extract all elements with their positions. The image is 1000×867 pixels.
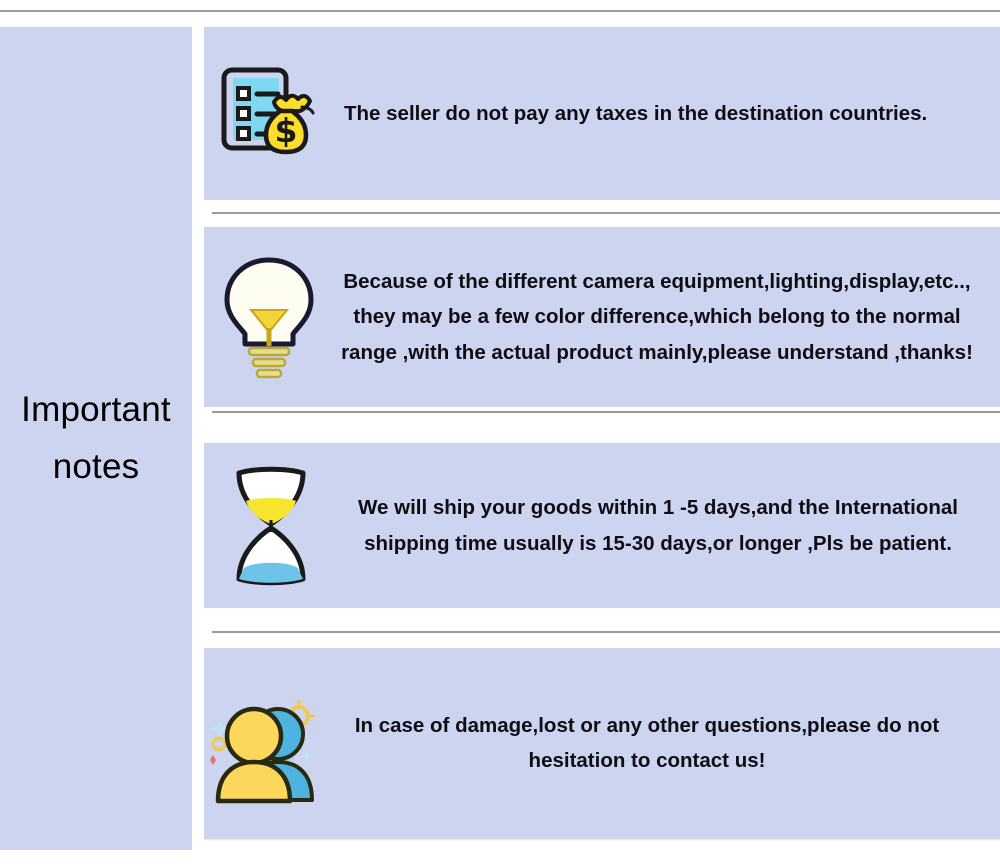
hourglass-icon: [212, 465, 330, 587]
notes-list: $ The seller do not pay any taxes in the…: [204, 27, 1000, 839]
note-text: We will ship your goods within 1 -5 days…: [330, 490, 1000, 561]
note-line: they may be a few color difference,which…: [328, 299, 986, 334]
note-divider: [212, 631, 1000, 633]
note-text: The seller do not pay any taxes in the d…: [330, 96, 1000, 131]
note-row: $ The seller do not pay any taxes in the…: [204, 27, 1000, 200]
note-row: In case of damage,lost or any other ques…: [204, 648, 1000, 838]
note-divider: [212, 411, 1000, 413]
panel-bottom-shadow: [204, 838, 1000, 841]
note-divider: [212, 212, 1000, 214]
sidebar-title-line-2: notes: [53, 439, 140, 496]
note-line: The seller do not pay any taxes in the d…: [344, 96, 986, 131]
note-line: We will ship your goods within 1 -5 days…: [330, 490, 986, 525]
top-divider: [0, 10, 1000, 12]
lightbulb-icon: [210, 254, 328, 380]
note-line: Because of the different camera equipmen…: [328, 264, 986, 299]
note-line: In case of damage,lost or any other ques…: [324, 708, 970, 743]
note-text: In case of damage,lost or any other ques…: [324, 708, 1000, 779]
note-row: We will ship your goods within 1 -5 days…: [204, 443, 1000, 608]
two-people-support-icon: [206, 682, 324, 804]
note-text: Because of the different camera equipmen…: [328, 264, 1000, 370]
sidebar-title-line-1: Important: [21, 382, 171, 439]
tax-document-money-bag-icon: $: [212, 64, 330, 164]
note-line: range ,with the actual product mainly,pl…: [328, 335, 986, 370]
important-notes-page: Important notes $: [0, 0, 1000, 867]
svg-text:$: $: [275, 111, 298, 150]
note-line: hesitation to contact us!: [324, 743, 970, 778]
note-row: Because of the different camera equipmen…: [204, 227, 1000, 407]
note-line: shipping time usually is 15-30 days,or l…: [330, 526, 986, 561]
sidebar-important-notes: Important notes: [0, 27, 192, 850]
